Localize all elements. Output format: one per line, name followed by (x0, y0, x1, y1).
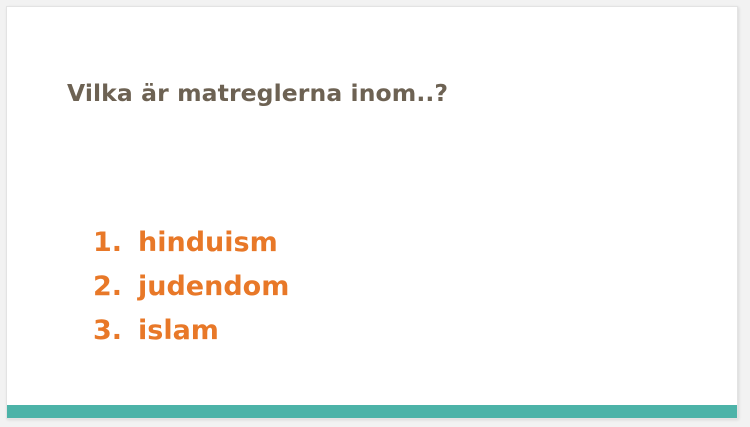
slide-title: Vilka är matreglerna inom..? (67, 79, 448, 107)
slide-content-area: Vilka är matreglerna inom..? 1. hinduism… (7, 7, 737, 418)
religion-list: 1. hinduism 2. judendom 3. islam (93, 221, 289, 353)
slide-accent-bar (7, 405, 737, 418)
list-item-label: hinduism (138, 221, 278, 265)
list-item-label: judendom (138, 265, 289, 309)
list-item-number: 3. (93, 309, 138, 353)
list-item: 1. hinduism (93, 221, 289, 265)
list-item: 3. islam (93, 309, 289, 353)
slide-frame: Vilka är matreglerna inom..? 1. hinduism… (6, 6, 738, 419)
list-item-number: 1. (93, 221, 138, 265)
list-item-label: islam (138, 309, 219, 353)
list-item-number: 2. (93, 265, 138, 309)
list-item: 2. judendom (93, 265, 289, 309)
